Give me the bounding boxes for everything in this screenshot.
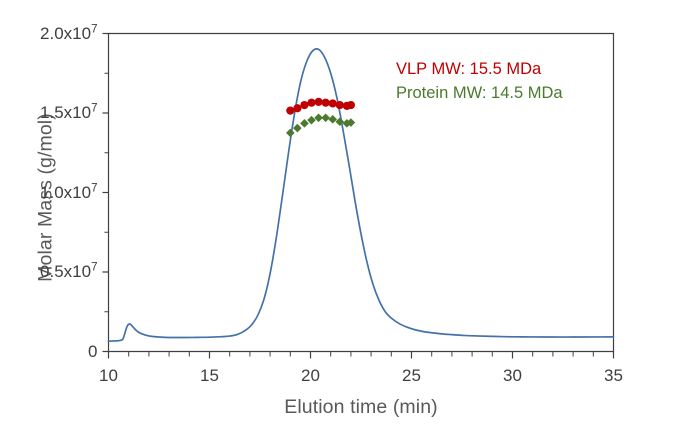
vlp-data-point: [307, 99, 315, 107]
annotation-vlp-mw: VLP MW: 15.5 MDa: [396, 60, 541, 79]
axis-major-ticks: [103, 34, 109, 352]
vlp-data-point: [293, 104, 301, 112]
axis-minor-ticks: [105, 73, 614, 358]
y-tick-label: 2.0x107: [0, 24, 98, 44]
protein-data-point: [328, 115, 337, 124]
x-tick-label: 15: [200, 366, 219, 386]
y-tick-label: 0.5x107: [0, 262, 98, 282]
x-tick-label: 35: [604, 366, 623, 386]
y-tick-label: 1.0x107: [0, 183, 98, 203]
vlp-data-point: [329, 99, 337, 107]
vlp-data-point: [347, 101, 355, 109]
x-tick-label: 10: [99, 366, 118, 386]
annotation-protein-mw: Protein MW: 14.5 MDa: [396, 84, 563, 103]
vlp-data-point: [314, 98, 322, 106]
x-tick-label: 30: [503, 366, 522, 386]
x-tick-label: 20: [301, 366, 320, 386]
protein-data-point: [293, 124, 302, 133]
x-axis-title: Elution time (min): [108, 396, 614, 419]
vlp-data-point: [300, 101, 308, 109]
y-tick-label: 0: [0, 342, 98, 362]
protein-data-point: [286, 129, 295, 138]
vlp-data-point: [286, 107, 294, 115]
axis-lines: [109, 34, 614, 352]
protein-data-point: [321, 113, 330, 122]
x-tick-label: 25: [402, 366, 421, 386]
vlp-data-point: [336, 101, 344, 109]
y-tick-label: 1.5x107: [0, 103, 98, 123]
vlp-data-point: [322, 99, 330, 107]
chart-figure: Molar Mass (g/mol) Elution time (min) 00…: [0, 0, 673, 444]
